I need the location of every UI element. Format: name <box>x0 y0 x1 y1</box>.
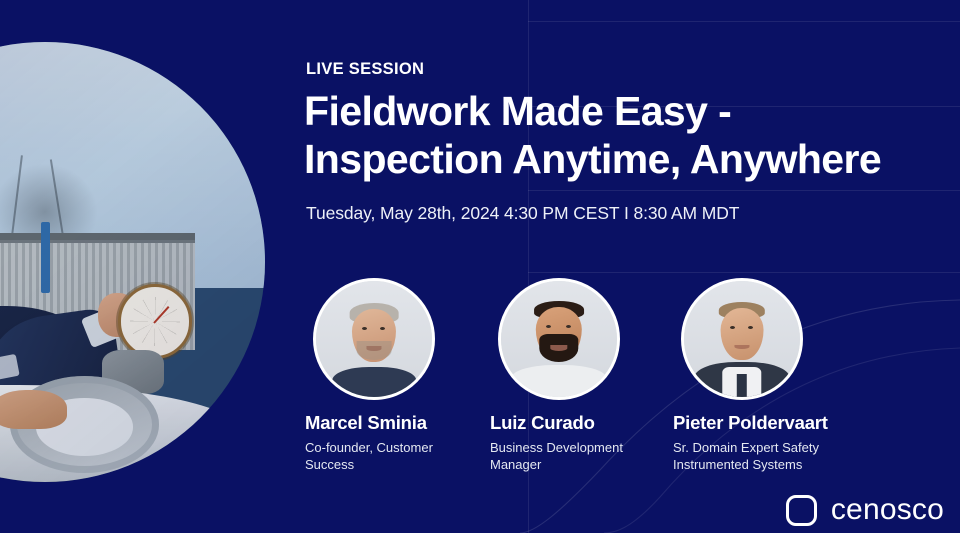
speaker-role: Business Development Manager <box>490 439 650 473</box>
grid-line-horizontal <box>528 21 960 22</box>
cenosco-logo: cenosco <box>786 493 944 527</box>
avatar <box>313 278 435 400</box>
avatar <box>498 278 620 400</box>
speaker-list: Marcel Sminia Co-founder, Customer Succe… <box>300 278 920 488</box>
webinar-promo-banner: LIVE SESSION Fieldwork Made Easy - Inspe… <box>0 0 960 533</box>
speaker-role: Co-founder, Customer Success <box>305 439 465 473</box>
page-title: Fieldwork Made Easy - Inspection Anytime… <box>304 88 914 183</box>
speaker-card: Marcel Sminia Co-founder, Customer Succe… <box>305 278 485 474</box>
speaker-name: Marcel Sminia <box>305 412 485 434</box>
speaker-role: Sr. Domain Expert Safety Instrumented Sy… <box>673 439 833 473</box>
avatar <box>681 278 803 400</box>
speaker-name: Luiz Curado <box>490 412 670 434</box>
rounded-square-outline-icon <box>786 495 817 526</box>
headline-line-1: Fieldwork Made Easy - <box>304 88 731 134</box>
speaker-card: Pieter Poldervaart Sr. Domain Expert Saf… <box>673 278 853 474</box>
session-datetime: Tuesday, May 28th, 2024 4:30 PM CEST I 8… <box>306 203 739 224</box>
speaker-name: Pieter Poldervaart <box>673 412 853 434</box>
speaker-card: Luiz Curado Business Development Manager <box>490 278 670 474</box>
headline-line-2: Inspection Anytime, Anywhere <box>304 136 914 184</box>
grid-line-horizontal <box>528 190 960 191</box>
hero-image <box>0 42 265 482</box>
eyebrow-label: LIVE SESSION <box>306 60 424 79</box>
grid-line-horizontal <box>528 272 960 273</box>
logo-wordmark: cenosco <box>831 493 944 527</box>
